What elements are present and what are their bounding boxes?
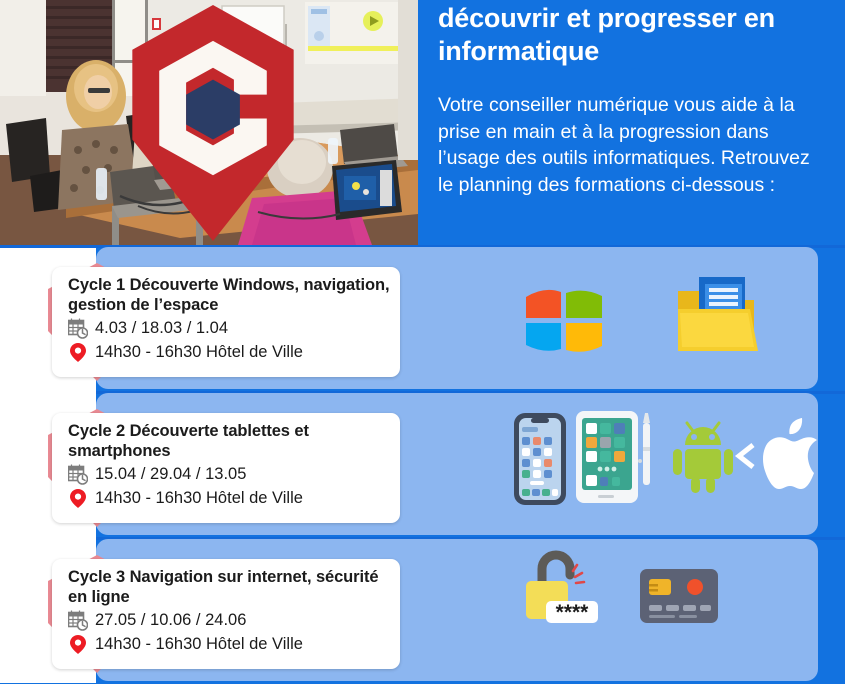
credit-card-icon — [638, 565, 722, 627]
smartphone-icon — [510, 409, 570, 509]
session-location: 14h30 - 16h30 Hôtel de Ville — [95, 633, 303, 655]
session-row-1[interactable]: Cycle 1 Découverte Windows, navigation, … — [0, 245, 845, 391]
windows-logo-icon — [520, 275, 608, 363]
session-dates-row: 27.05 / 10.06 / 24.06 — [68, 609, 390, 631]
session-title: Cycle 2 Découverte tablettes et smartpho… — [68, 421, 390, 461]
location-pin-icon — [68, 488, 88, 509]
stylus-shape — [643, 413, 650, 485]
less-than-icon — [734, 441, 758, 471]
session-title: Cycle 1 Découverte Windows, navigation, … — [68, 275, 390, 315]
hero-text-panel: découvrir et progresser en informatique … — [418, 0, 845, 245]
session-location: 14h30 - 16h30 Hôtel de Ville — [95, 487, 303, 509]
session-location: 14h30 - 16h30 Hôtel de Ville — [95, 341, 303, 363]
calendar-clock-icon — [68, 464, 88, 485]
page-title: découvrir et progresser en informatique — [438, 0, 821, 68]
session-location-row: 14h30 - 16h30 Hôtel de Ville — [68, 633, 390, 655]
tablet-stylus-icon — [574, 407, 652, 509]
calendar-clock-icon — [68, 318, 88, 339]
folder-document-icon — [672, 273, 764, 363]
session-dates: 15.04 / 29.04 / 13.05 — [95, 463, 246, 485]
training-room-photo — [0, 0, 418, 245]
location-pin-icon — [68, 342, 88, 363]
open-padlock-password-icon: **** — [520, 549, 616, 635]
session-location-row: 14h30 - 16h30 Hôtel de Ville — [68, 341, 390, 363]
session-card[interactable]: Cycle 2 Découverte tablettes et smartpho… — [52, 413, 400, 523]
android-robot-icon — [672, 419, 734, 495]
map-pin-logo-icon — [4, 2, 418, 245]
calendar-clock-icon — [68, 610, 88, 631]
sessions-list: Cycle 1 Découverte Windows, navigation, … — [0, 245, 845, 684]
poster-root: découvrir et progresser en informatique … — [0, 0, 845, 684]
session-dates: 27.05 / 10.06 / 24.06 — [95, 609, 246, 631]
apple-logo-icon — [758, 415, 830, 499]
session-row-3[interactable]: Cycle 3 Navigation sur internet, sécurit… — [0, 537, 845, 683]
hero-band: découvrir et progresser en informatique … — [0, 0, 845, 245]
session-dates-row: 15.04 / 29.04 / 13.05 — [68, 463, 390, 485]
session-dates: 4.03 / 18.03 / 1.04 — [95, 317, 228, 339]
hero-description: Votre conseiller numérique vous aide à l… — [438, 68, 821, 198]
session-title: Cycle 3 Navigation sur internet, sécurit… — [68, 567, 390, 607]
location-pin-icon — [68, 634, 88, 655]
session-card[interactable]: Cycle 1 Découverte Windows, navigation, … — [52, 267, 400, 377]
session-location-row: 14h30 - 16h30 Hôtel de Ville — [68, 487, 390, 509]
password-mask-text: **** — [556, 601, 590, 624]
session-row-2[interactable]: Cycle 2 Découverte tablettes et smartpho… — [0, 391, 845, 537]
session-card[interactable]: Cycle 3 Navigation sur internet, sécurit… — [52, 559, 400, 669]
session-dates-row: 4.03 / 18.03 / 1.04 — [68, 317, 390, 339]
